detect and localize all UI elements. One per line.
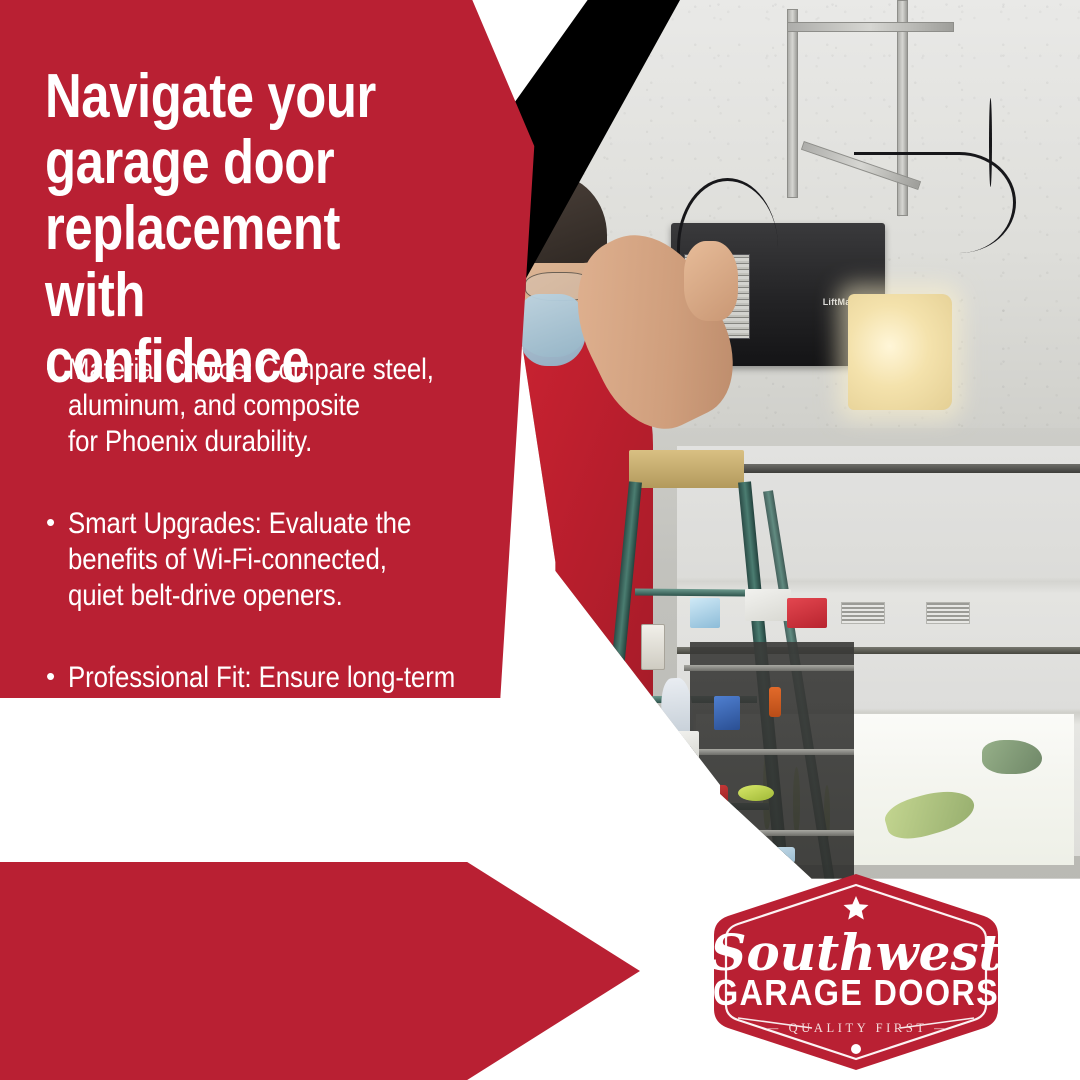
bullet-dot-icon: • [46,505,68,539]
ladder-top-cap [629,450,745,487]
ladder-warning-label [641,624,665,670]
spray-can [769,687,781,717]
mask-box [751,847,795,863]
cord-drop [989,98,992,187]
supply-box-1 [690,598,720,628]
supply-can-1 [714,696,740,730]
bottom-chevron-band [0,862,640,1080]
logo-caps-name: GARAGE DOORS [713,973,999,1013]
list-item-text: Material Choice: Compare steel, aluminum… [68,352,496,460]
company-logo[interactable]: Southwest GARAGE DOORS — QUALITY FIRST — [712,872,1000,1072]
social-poster: LiftMaster [0,0,1080,1080]
bracket-cross [787,22,954,32]
list-item: • Material Choice: Compare steel, alumin… [46,352,566,460]
shelf-2 [684,749,855,755]
list-item-text: Professional Fit: Ensure long-term perfo… [68,660,496,768]
supply-box-2 [745,589,791,621]
ladder-step-1 [635,588,745,596]
logo-tagline: — QUALITY FIRST — [765,1021,950,1035]
list-item: • Professional Fit: Ensure long-term per… [46,660,566,768]
bullet-dot-icon: • [46,351,68,385]
bullet-dot-icon: • [46,659,68,693]
benefit-list: • Material Choice: Compare steel, alumin… [46,352,566,768]
cardboard-box [653,821,705,857]
shelf-1 [684,665,855,671]
power-cord-run [854,152,1016,253]
hedge [982,740,1042,774]
red-tool [702,785,728,809]
technician-hand [684,241,739,321]
door-vent-right [926,602,970,624]
bracket-vertical-left [787,9,798,198]
storage-shelving [690,642,855,892]
list-item: • Smart Upgrades: Evaluate the benefits … [46,506,566,614]
dot-icon [851,1044,861,1054]
shelf-3 [684,830,855,836]
opener-light-lens [848,294,952,410]
paper-stack [659,731,699,767]
door-vent-left [841,602,885,624]
list-item-text: Smart Upgrades: Evaluate the benefits of… [68,506,496,614]
page-title: Navigate your garage door replacement wi… [45,64,398,396]
supply-box-3 [787,598,827,628]
